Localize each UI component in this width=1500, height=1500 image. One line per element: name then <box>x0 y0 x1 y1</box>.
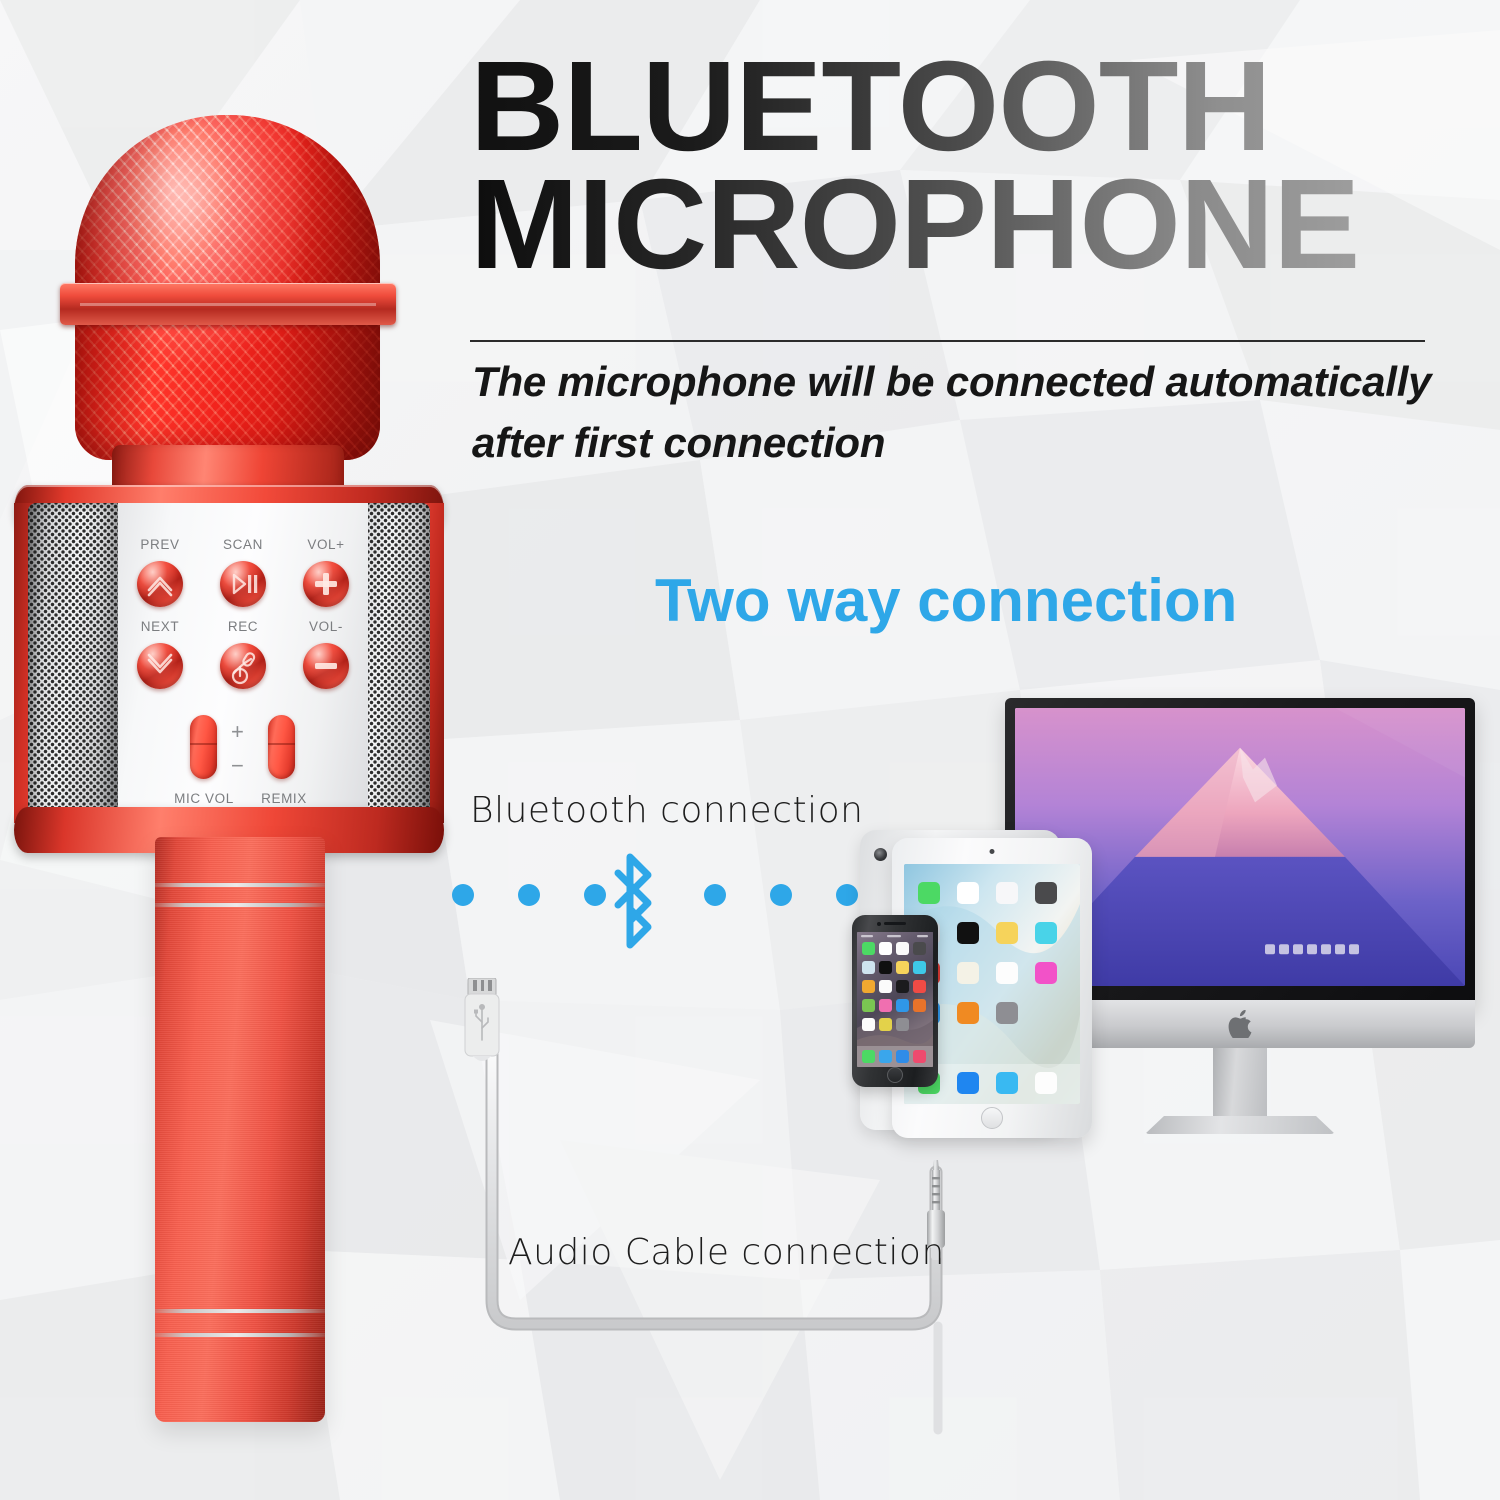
prev-button-label: PREV <box>122 537 198 552</box>
bluetooth-dot <box>704 884 726 906</box>
scan-button-label: SCAN <box>205 537 281 552</box>
control-panel: PREV SCAN VOL+ <box>118 503 368 823</box>
phone-earpiece-icon <box>884 922 906 925</box>
microphone-icon <box>220 643 266 689</box>
headline-block: BLUETOOTH MICROPHONE <box>470 48 1460 284</box>
microphone-head-band <box>60 283 396 325</box>
bluetooth-dot <box>770 884 792 906</box>
plus-icon <box>303 561 349 607</box>
play-pause-icon <box>220 561 266 607</box>
volume-up-button-label: VOL+ <box>288 537 364 552</box>
remix-switch-label: REMIX <box>244 791 324 806</box>
switch-minus-marker: − <box>231 753 244 779</box>
minus-icon <box>303 643 349 689</box>
switch-plus-marker: + <box>231 719 244 745</box>
headline-line-1: BLUETOOTH <box>470 48 1480 166</box>
scan-button[interactable] <box>220 561 266 607</box>
mic-vol-switch[interactable] <box>190 715 217 779</box>
compatible-devices-group <box>830 690 1500 1190</box>
phone-home-screen <box>857 932 933 1067</box>
smartphone <box>852 915 938 1087</box>
product-marketing-image: BLUETOOTH MICROPHONE The microphone will… <box>0 0 1500 1500</box>
volume-down-button-label: VOL- <box>288 619 364 634</box>
monitor-stand <box>1213 1048 1267 1120</box>
rec-button[interactable] <box>220 643 266 689</box>
tablet-home-button[interactable] <box>981 1107 1003 1129</box>
microphone-handle <box>155 837 325 1422</box>
apple-logo-icon <box>1228 1010 1252 1038</box>
bluetooth-icon <box>588 845 678 955</box>
rec-button-label: REC <box>205 619 281 634</box>
audio-cable-connection-label: Audio Cable connection <box>508 1232 945 1273</box>
micro-usb-plug-icon <box>455 978 509 1088</box>
bluetooth-microphone-product: PREV SCAN VOL+ <box>0 95 460 1435</box>
volume-up-button[interactable] <box>303 561 349 607</box>
chevron-up-icon <box>137 561 183 607</box>
bluetooth-connection-label: Bluetooth connection <box>470 790 863 831</box>
remix-switch[interactable] <box>268 715 295 779</box>
next-button-label: NEXT <box>122 619 198 634</box>
microphone-speaker-body: PREV SCAN VOL+ <box>14 503 444 823</box>
prev-button[interactable] <box>137 561 183 607</box>
tablet-front-camera-icon <box>990 849 995 854</box>
phone-screen <box>857 932 933 1067</box>
chevron-down-icon <box>137 643 183 689</box>
volume-down-button[interactable] <box>303 643 349 689</box>
bluetooth-dot <box>518 884 540 906</box>
two-way-connection-heading: Two way connection <box>655 566 1237 635</box>
headline-divider <box>470 340 1425 342</box>
phone-front-camera-icon <box>877 922 881 926</box>
tablet-camera-icon <box>874 848 887 861</box>
mic-vol-switch-label: MIC VOL <box>164 791 244 806</box>
headline-line-2: MICROPHONE <box>470 166 1480 284</box>
speaker-grille-left <box>28 503 118 823</box>
subtitle-block: The microphone will be connected automat… <box>472 352 1472 474</box>
next-button[interactable] <box>137 643 183 689</box>
phone-home-button[interactable] <box>887 1067 903 1083</box>
subtitle-line-1: The microphone will be connected automat… <box>472 352 1472 413</box>
monitor-foot <box>1145 1116 1335 1134</box>
subtitle-line-2: after first connection <box>472 413 1472 474</box>
